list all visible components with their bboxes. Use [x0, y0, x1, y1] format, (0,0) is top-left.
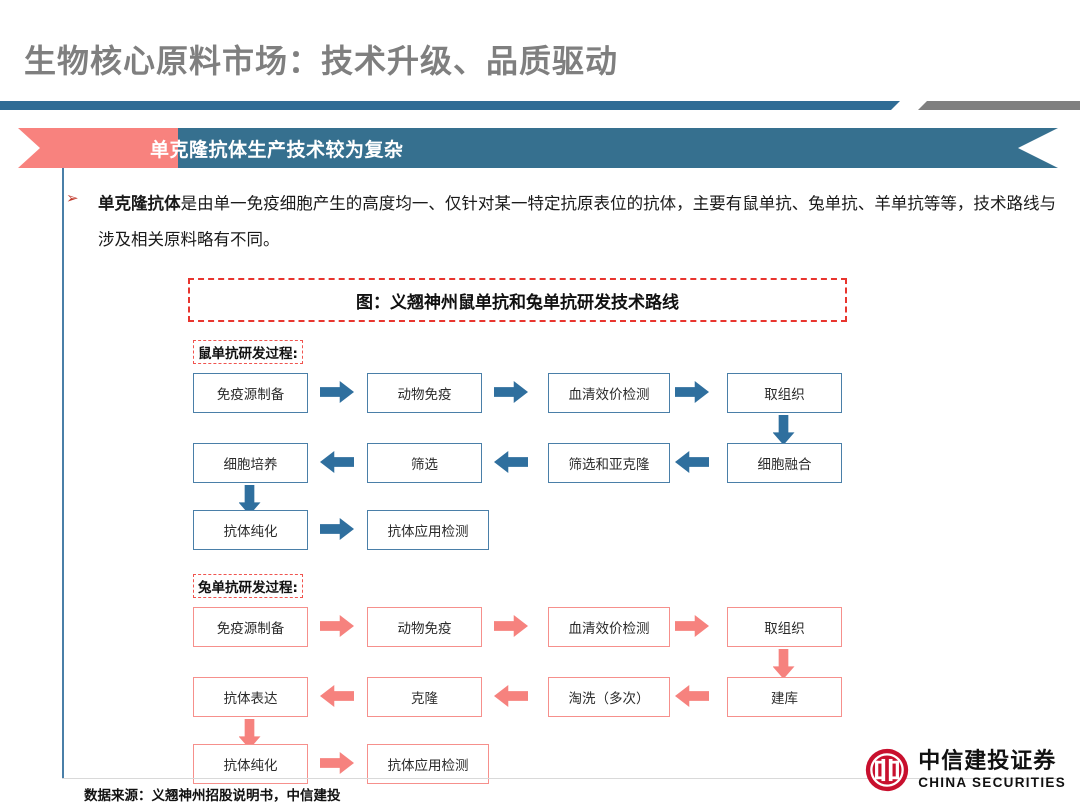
page-title: 生物核心原料市场：技术升级、品质驱动: [24, 36, 618, 82]
bullet-lead: 单克隆抗体: [98, 194, 181, 213]
flow-node: 动物免疫: [367, 607, 482, 647]
section-banner: 单克隆抗体生产技术较为复杂: [18, 128, 1058, 168]
citic-logo-icon: [864, 747, 910, 793]
banner-title: 单克隆抗体生产技术较为复杂: [142, 128, 404, 168]
flow-arrow-right-icon: [494, 381, 528, 403]
flow-arrow-left-icon: [320, 451, 354, 473]
flow-arrow-left-icon: [675, 685, 709, 707]
flow-node: 筛选和亚克隆: [548, 443, 670, 483]
flow-arrow-right-icon: [320, 518, 354, 540]
flow-node: 淘洗（多次）: [548, 677, 670, 717]
flow-node: 建库: [727, 677, 842, 717]
flow-node: 取组织: [727, 373, 842, 413]
flow-node: 血清效价检测: [548, 607, 670, 647]
figure-title: 图：义翘神州鼠单抗和兔单抗研发技术路线: [188, 278, 847, 322]
flow-section-label: 兔单抗研发过程:: [193, 574, 303, 598]
flow-arrow-right-icon: [494, 615, 528, 637]
flow-node: 抗体应用检测: [367, 510, 489, 550]
flow-node: 动物免疫: [367, 373, 482, 413]
flow-arrow-down-icon: [773, 649, 795, 679]
flow-node: 免疫源制备: [193, 373, 308, 413]
flow-node: 细胞融合: [727, 443, 842, 483]
flow-section-label: 鼠单抗研发过程:: [193, 340, 303, 364]
flow-node: 取组织: [727, 607, 842, 647]
logo-name-cn: 中信建投证券: [918, 751, 1066, 773]
header-rule-blue: [0, 101, 900, 110]
flow-arrow-right-icon: [675, 381, 709, 403]
logo-text: 中信建投证券 CHINA SECURITIES: [918, 751, 1066, 790]
bullet-text: 单克隆抗体是由单一免疫细胞产生的高度均一、仅针对某一特定抗原表位的抗体，主要有鼠…: [98, 186, 1056, 258]
slide: 生物核心原料市场：技术升级、品质驱动 单克隆抗体生产技术较为复杂 ➢ 单克隆抗体…: [0, 0, 1080, 810]
flow-arrow-right-icon: [320, 381, 354, 403]
header-rule-gray: [918, 101, 1080, 110]
left-accent-rule: [62, 168, 64, 778]
flow-arrow-left-icon: [675, 451, 709, 473]
flow-node: 血清效价检测: [548, 373, 670, 413]
flow-arrow-left-icon: [494, 685, 528, 707]
flow-node: 抗体纯化: [193, 510, 308, 550]
flow-node: 细胞培养: [193, 443, 308, 483]
bullet-paragraph: ➢ 单克隆抗体是由单一免疫细胞产生的高度均一、仅针对某一特定抗原表位的抗体，主要…: [66, 186, 1056, 258]
flow-arrow-down-icon: [773, 415, 795, 445]
company-logo: 中信建投证券 CHINA SECURITIES: [864, 742, 1066, 798]
bullet-marker-icon: ➢: [66, 191, 79, 206]
flow-arrow-right-icon: [320, 752, 354, 774]
flow-arrow-left-icon: [320, 685, 354, 707]
flow-node: 免疫源制备: [193, 607, 308, 647]
source-note: 数据来源：义翘神州招股说明书，中信建投: [84, 784, 341, 804]
flow-arrow-right-icon: [320, 615, 354, 637]
logo-name-en: CHINA SECURITIES: [918, 776, 1066, 790]
bullet-rest: 是由单一免疫细胞产生的高度均一、仅针对某一特定抗原表位的抗体，主要有鼠单抗、兔单…: [98, 194, 1056, 249]
flow-node: 抗体表达: [193, 677, 308, 717]
flow-arrow-right-icon: [675, 615, 709, 637]
flow-arrow-left-icon: [494, 451, 528, 473]
flow-node: 筛选: [367, 443, 482, 483]
flow-node: 克隆: [367, 677, 482, 717]
